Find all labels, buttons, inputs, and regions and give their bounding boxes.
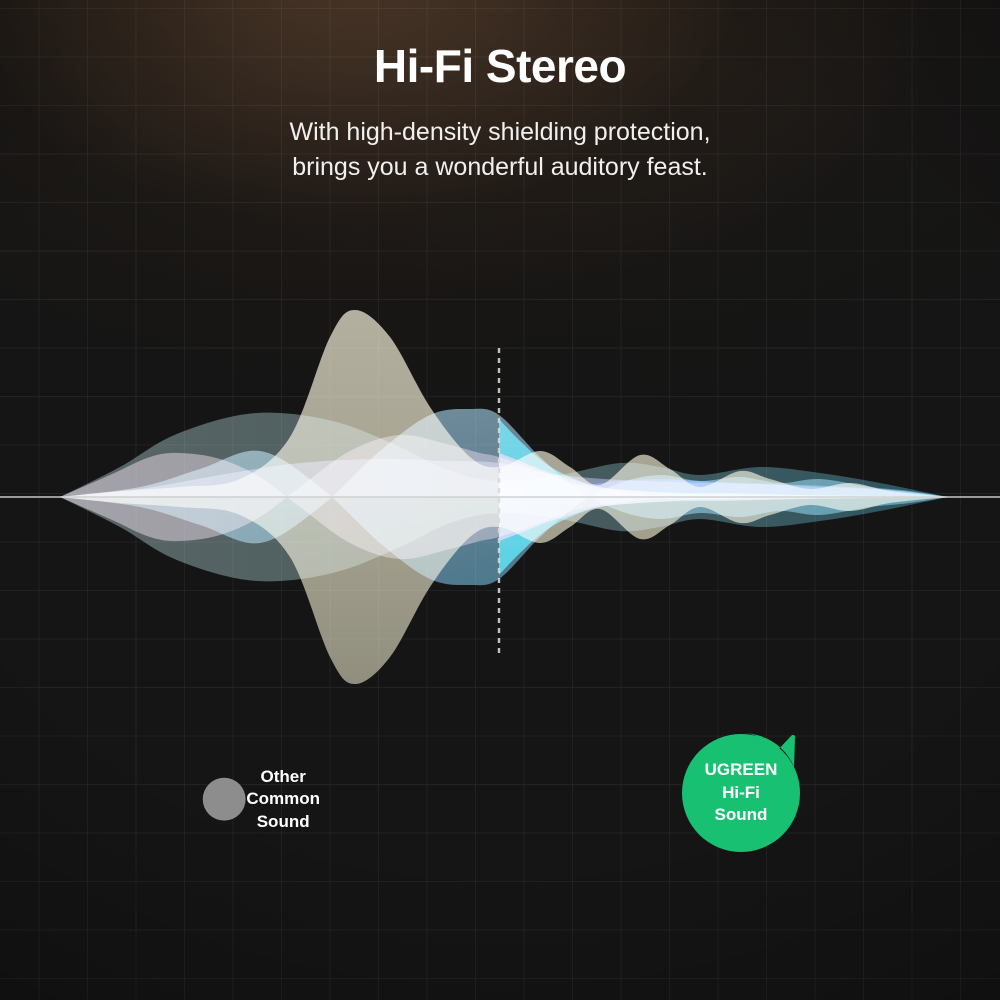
hifi-stereo-banner: Hi-Fi Stereo With high-density shielding…	[0, 0, 1000, 1000]
badge-other-common-sound: Other Common Sound	[202, 740, 320, 858]
badge-ugreen-hifi-sound: UGREEN Hi-Fi Sound	[680, 731, 802, 853]
page-title: Hi-Fi Stereo	[0, 40, 1000, 93]
badge-label-other-common-sound: Other Common Sound	[246, 766, 320, 833]
page-subtitle: With high-density shielding protection, …	[0, 115, 1000, 186]
subtitle-line-1: With high-density shielding protection,	[0, 115, 1000, 151]
subtitle-line-2: brings you a wonderful auditory feast.	[0, 150, 1000, 186]
headline-block: Hi-Fi Stereo With high-density shielding…	[0, 40, 1000, 186]
badge-label-ugreen-hifi-sound: UGREEN Hi-Fi Sound	[705, 759, 778, 826]
circle-shape-icon	[202, 777, 246, 821]
